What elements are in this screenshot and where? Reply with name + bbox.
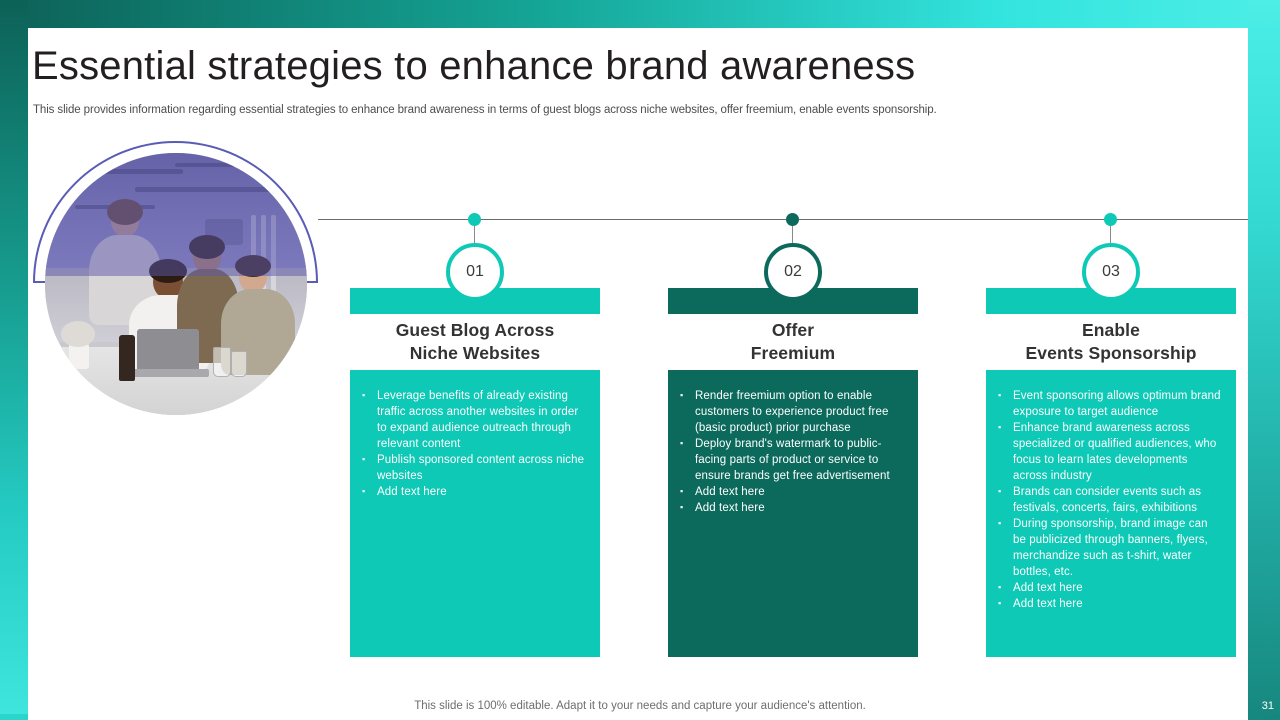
photo-purple-overlay: [45, 153, 307, 276]
column-body-2: Render freemium option to enable custome…: [668, 370, 918, 657]
team-photo: [45, 153, 307, 415]
column-title-2: Offer Freemium: [668, 319, 918, 365]
bullet-item: Add text here: [996, 596, 1222, 612]
column-title-line2: Events Sponsorship: [986, 342, 1236, 365]
column-title-line1: Enable: [986, 319, 1236, 342]
bullet-item: Add text here: [996, 580, 1222, 596]
bullet-list-3: Event sponsoring allows optimum brand ex…: [996, 388, 1222, 612]
timeline-dot-3: [1104, 213, 1117, 226]
bullet-item: Enhance brand awareness across specializ…: [996, 420, 1222, 484]
frame-right-band: [1248, 0, 1280, 720]
bullet-item: Deploy brand's watermark to public-facin…: [678, 436, 904, 484]
timeline-dot-1: [468, 213, 481, 226]
frame-left-band: [0, 0, 28, 720]
bullet-list-2: Render freemium option to enable custome…: [678, 388, 904, 516]
bullet-item: Brands can consider events such as festi…: [996, 484, 1222, 516]
photo-laptop-base: [129, 369, 209, 377]
photo-bottle: [119, 335, 135, 381]
bullet-item: Add text here: [678, 500, 904, 516]
photo-composition: [33, 141, 318, 426]
bullet-item: Render freemium option to enable custome…: [678, 388, 904, 436]
step-number-label: 03: [1102, 263, 1120, 281]
bullet-item: Event sponsoring allows optimum brand ex…: [996, 388, 1222, 420]
column-body-1: Leverage benefits of already existing tr…: [350, 370, 600, 657]
page-number: 31: [1262, 700, 1274, 712]
column-title-1: Guest Blog Across Niche Websites: [350, 319, 600, 365]
slide: Essential strategies to enhance brand aw…: [0, 0, 1280, 720]
bullet-item: Leverage benefits of already existing tr…: [360, 388, 586, 452]
column-title-line2: Niche Websites: [350, 342, 600, 365]
page-title: Essential strategies to enhance brand aw…: [32, 44, 915, 89]
page-subtitle: This slide provides information regardin…: [33, 104, 1133, 116]
step-number-label: 02: [784, 263, 802, 281]
bullet-item: Add text here: [360, 484, 586, 500]
step-number-badge-1: 01: [446, 243, 504, 301]
bullet-item: Publish sponsored content across niche w…: [360, 452, 586, 484]
column-title-line1: Offer: [668, 319, 918, 342]
footer-note: This slide is 100% editable. Adapt it to…: [0, 700, 1280, 712]
column-title-line2: Freemium: [668, 342, 918, 365]
photo-glass: [213, 347, 231, 377]
step-number-label: 01: [466, 263, 484, 281]
column-title-line1: Guest Blog Across: [350, 319, 600, 342]
timeline-dot-2: [786, 213, 799, 226]
column-title-3: Enable Events Sponsorship: [986, 319, 1236, 365]
column-body-3: Event sponsoring allows optimum brand ex…: [986, 370, 1236, 657]
bullet-item: During sponsorship, brand image can be p…: [996, 516, 1222, 580]
photo-plant: [61, 321, 95, 347]
bullet-list-1: Leverage benefits of already existing tr…: [360, 388, 586, 500]
step-number-badge-3: 03: [1082, 243, 1140, 301]
photo-laptop-screen: [137, 329, 199, 371]
photo-glass: [231, 351, 247, 377]
step-number-badge-2: 02: [764, 243, 822, 301]
bullet-item: Add text here: [678, 484, 904, 500]
